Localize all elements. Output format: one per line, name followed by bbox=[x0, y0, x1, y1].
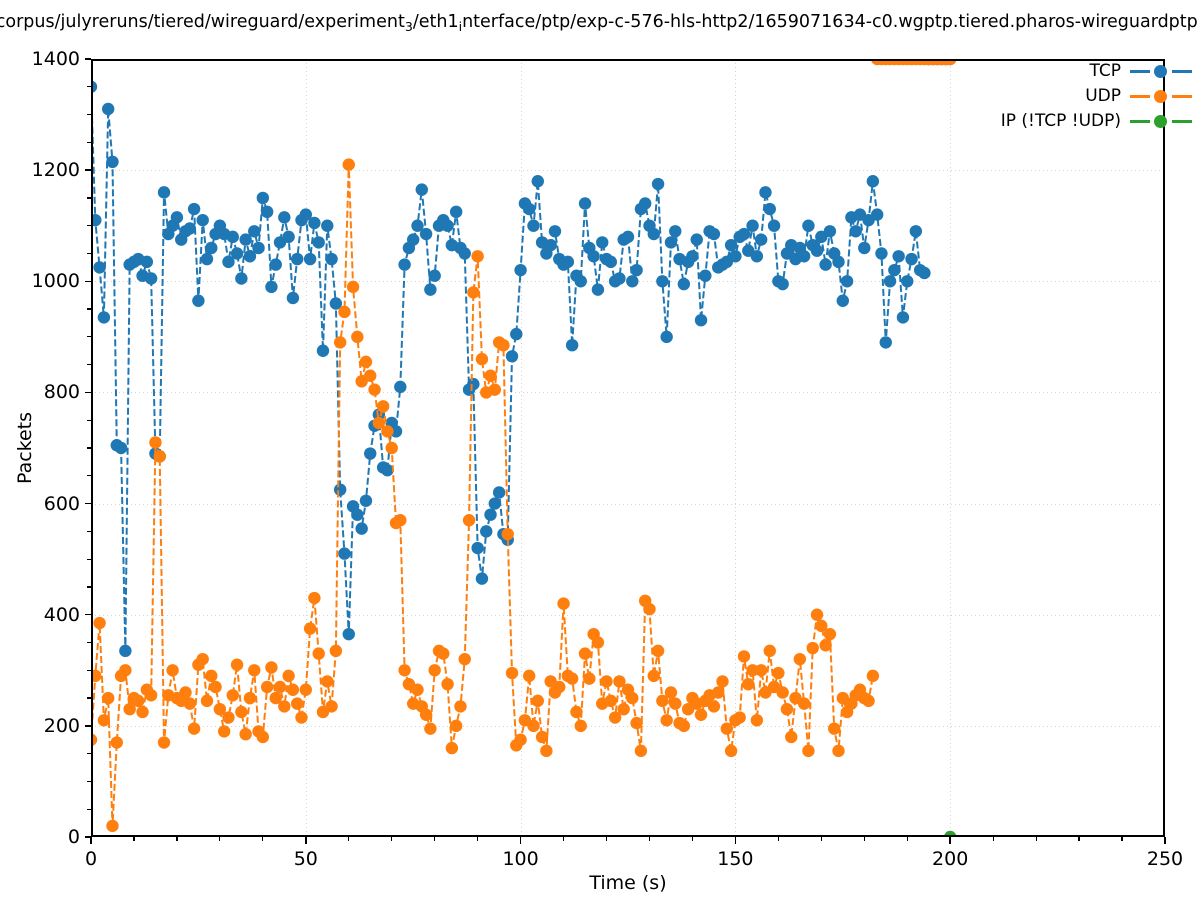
data-point bbox=[192, 295, 204, 307]
data-point bbox=[613, 272, 625, 284]
data-point bbox=[484, 370, 496, 382]
data-point bbox=[93, 617, 105, 629]
data-point bbox=[828, 722, 840, 734]
data-point bbox=[394, 514, 406, 526]
data-point bbox=[858, 242, 870, 254]
y-tick-label: 1200 bbox=[32, 159, 80, 181]
data-point bbox=[824, 628, 836, 640]
data-point bbox=[119, 645, 131, 657]
data-point bbox=[441, 220, 453, 232]
data-point bbox=[652, 645, 664, 657]
x-tick bbox=[1164, 837, 1166, 844]
data-point bbox=[600, 675, 612, 687]
series-tcp bbox=[91, 59, 956, 657]
data-point bbox=[708, 228, 720, 240]
x-tick bbox=[949, 837, 951, 844]
data-point bbox=[360, 495, 372, 507]
data-point bbox=[480, 525, 492, 537]
x-tick-label: 100 bbox=[502, 848, 538, 870]
data-point bbox=[171, 211, 183, 223]
data-point bbox=[407, 233, 419, 245]
data-point bbox=[398, 664, 410, 676]
data-point bbox=[471, 542, 483, 554]
data-point bbox=[149, 436, 161, 448]
legend-label: UDP bbox=[1085, 86, 1121, 106]
data-point bbox=[506, 667, 518, 679]
data-point bbox=[686, 250, 698, 262]
data-point bbox=[570, 706, 582, 718]
x-tick-minor bbox=[864, 837, 865, 841]
data-point bbox=[398, 258, 410, 270]
data-point bbox=[575, 275, 587, 287]
data-point bbox=[106, 820, 118, 832]
data-point bbox=[102, 692, 114, 704]
data-point bbox=[235, 272, 247, 284]
data-point bbox=[630, 264, 642, 276]
data-point bbox=[467, 378, 479, 390]
page-title: nlight/corpus/julyreruns/tiered/wireguar… bbox=[0, 8, 1197, 36]
x-tick-label: 150 bbox=[717, 848, 753, 870]
data-point bbox=[652, 178, 664, 190]
data-point bbox=[338, 306, 350, 318]
data-point bbox=[304, 622, 316, 634]
data-point bbox=[807, 642, 819, 654]
x-tick bbox=[305, 837, 307, 844]
data-point bbox=[811, 609, 823, 621]
data-point bbox=[154, 450, 166, 462]
data-point bbox=[450, 206, 462, 218]
legend-line-right bbox=[1172, 70, 1192, 73]
y-tick-label: 1000 bbox=[32, 270, 80, 292]
data-point bbox=[536, 731, 548, 743]
data-point bbox=[334, 483, 346, 495]
data-point bbox=[622, 231, 634, 243]
data-point bbox=[270, 258, 282, 270]
x-tick-minor bbox=[993, 837, 994, 841]
data-point bbox=[819, 639, 831, 651]
data-point bbox=[764, 203, 776, 215]
figure: nlight/corpus/julyreruns/tiered/wireguar… bbox=[0, 0, 1197, 900]
legend-marker-circle-icon bbox=[1154, 65, 1167, 78]
data-point bbox=[459, 247, 471, 259]
data-point bbox=[849, 225, 861, 237]
data-point bbox=[484, 508, 496, 520]
data-point bbox=[746, 220, 758, 232]
data-point bbox=[716, 675, 728, 687]
data-point bbox=[708, 700, 720, 712]
data-point bbox=[265, 281, 277, 293]
data-point bbox=[248, 664, 260, 676]
data-point bbox=[905, 253, 917, 265]
data-point bbox=[197, 653, 209, 665]
x-axis-label: Time (s) bbox=[91, 872, 1165, 894]
data-point bbox=[532, 695, 544, 707]
data-point bbox=[794, 653, 806, 665]
data-point bbox=[235, 706, 247, 718]
data-point bbox=[454, 700, 466, 712]
data-point bbox=[274, 681, 286, 693]
data-point bbox=[888, 264, 900, 276]
data-point bbox=[566, 672, 578, 684]
data-point bbox=[648, 228, 660, 240]
data-point bbox=[377, 400, 389, 412]
data-point bbox=[884, 275, 896, 287]
data-point bbox=[287, 684, 299, 696]
data-point bbox=[575, 720, 587, 732]
data-point bbox=[493, 486, 505, 498]
data-point bbox=[523, 203, 535, 215]
data-point bbox=[699, 270, 711, 282]
data-point bbox=[227, 231, 239, 243]
data-point bbox=[918, 267, 930, 279]
data-point bbox=[626, 692, 638, 704]
data-point bbox=[643, 603, 655, 615]
data-point bbox=[751, 714, 763, 726]
data-point bbox=[497, 339, 509, 351]
data-point bbox=[98, 311, 110, 323]
data-point bbox=[871, 208, 883, 220]
axis-spine-top bbox=[91, 59, 1165, 61]
x-tick-minor bbox=[434, 837, 435, 841]
data-point bbox=[785, 731, 797, 743]
data-point bbox=[630, 717, 642, 729]
data-point bbox=[910, 225, 922, 237]
data-point bbox=[205, 670, 217, 682]
data-point bbox=[317, 345, 329, 357]
legend-line-left bbox=[1130, 120, 1150, 123]
data-point bbox=[832, 745, 844, 757]
data-point bbox=[197, 214, 209, 226]
data-point bbox=[343, 628, 355, 640]
x-tick-minor bbox=[133, 837, 134, 841]
data-point bbox=[179, 686, 191, 698]
data-point bbox=[562, 256, 574, 268]
data-point bbox=[781, 703, 793, 715]
data-point bbox=[867, 175, 879, 187]
data-point bbox=[798, 250, 810, 262]
y-tick-label: 600 bbox=[44, 493, 80, 515]
data-point bbox=[265, 661, 277, 673]
legend-marker-circle-icon bbox=[1154, 90, 1167, 103]
data-point bbox=[278, 211, 290, 223]
data-point bbox=[802, 220, 814, 232]
data-point bbox=[867, 670, 879, 682]
data-point bbox=[510, 328, 522, 340]
data-point bbox=[665, 686, 677, 698]
y-tick-label: 800 bbox=[44, 381, 80, 403]
x-tick-minor bbox=[176, 837, 177, 841]
data-point bbox=[755, 664, 767, 676]
data-point bbox=[579, 647, 591, 659]
legend-label: TCP bbox=[1089, 61, 1121, 81]
data-point bbox=[489, 497, 501, 509]
legend-item-udp[interactable]: UDP bbox=[1085, 85, 1192, 107]
data-point bbox=[557, 597, 569, 609]
data-point bbox=[669, 697, 681, 709]
data-point bbox=[605, 695, 617, 707]
axis-spine-bottom bbox=[91, 835, 1165, 837]
data-point bbox=[420, 709, 432, 721]
data-point bbox=[106, 156, 118, 168]
data-point bbox=[424, 722, 436, 734]
data-point bbox=[188, 722, 200, 734]
legend-line-left bbox=[1130, 95, 1150, 98]
data-point bbox=[115, 442, 127, 454]
data-point bbox=[334, 336, 346, 348]
data-point bbox=[875, 247, 887, 259]
data-point bbox=[325, 700, 337, 712]
data-point bbox=[98, 714, 110, 726]
data-point bbox=[880, 336, 892, 348]
data-point bbox=[592, 283, 604, 295]
data-point bbox=[648, 670, 660, 682]
legend-item-tcp[interactable]: TCP bbox=[1089, 60, 1192, 82]
data-point bbox=[678, 720, 690, 732]
data-point bbox=[145, 689, 157, 701]
data-point bbox=[489, 383, 501, 395]
data-point bbox=[764, 645, 776, 657]
x-tick bbox=[90, 837, 92, 844]
data-point bbox=[343, 158, 355, 170]
legend-item-ip-tcp-udp-[interactable]: IP (!TCP !UDP) bbox=[1001, 110, 1192, 132]
title-mid-2: nterface/ptp/exp-c-576-hls-http2/1659071… bbox=[462, 12, 1197, 32]
data-point bbox=[446, 742, 458, 754]
legend-label: IP (!TCP !UDP) bbox=[1001, 111, 1121, 131]
title-prefix: nlight/corpus/julyreruns/tiered/wireguar… bbox=[0, 12, 405, 32]
data-point bbox=[252, 242, 264, 254]
data-point bbox=[596, 236, 608, 248]
data-point bbox=[351, 508, 363, 520]
y-tick-label: 0 bbox=[68, 826, 80, 848]
data-point bbox=[295, 711, 307, 723]
data-point bbox=[278, 700, 290, 712]
data-point bbox=[351, 331, 363, 343]
data-point bbox=[695, 709, 707, 721]
data-point bbox=[321, 220, 333, 232]
data-point bbox=[506, 350, 518, 362]
data-point bbox=[635, 745, 647, 757]
data-point bbox=[437, 647, 449, 659]
series-svg bbox=[91, 59, 1165, 837]
data-point bbox=[734, 711, 746, 723]
x-tick-minor bbox=[391, 837, 392, 841]
data-point bbox=[467, 286, 479, 298]
data-point bbox=[368, 383, 380, 395]
legend-line-right bbox=[1172, 95, 1192, 98]
data-point bbox=[502, 528, 514, 540]
x-tick-minor bbox=[1036, 837, 1037, 841]
data-point bbox=[201, 253, 213, 265]
x-tick-label: 50 bbox=[294, 848, 318, 870]
x-tick-label: 250 bbox=[1147, 848, 1183, 870]
data-point bbox=[802, 745, 814, 757]
data-point bbox=[669, 225, 681, 237]
data-point bbox=[837, 295, 849, 307]
data-point bbox=[892, 250, 904, 262]
data-point bbox=[231, 659, 243, 671]
data-point bbox=[768, 220, 780, 232]
data-point bbox=[227, 689, 239, 701]
data-point bbox=[93, 261, 105, 273]
data-point bbox=[282, 231, 294, 243]
data-point bbox=[459, 653, 471, 665]
data-point bbox=[695, 314, 707, 326]
data-point bbox=[450, 720, 462, 732]
x-tick-label: 0 bbox=[85, 848, 97, 870]
data-point bbox=[424, 283, 436, 295]
data-point bbox=[738, 650, 750, 662]
data-point bbox=[811, 245, 823, 257]
data-point bbox=[527, 220, 539, 232]
x-tick-minor bbox=[778, 837, 779, 841]
data-point bbox=[759, 186, 771, 198]
x-tick-minor bbox=[649, 837, 650, 841]
data-point bbox=[304, 253, 316, 265]
data-point bbox=[729, 250, 741, 262]
data-point bbox=[532, 175, 544, 187]
data-point bbox=[841, 275, 853, 287]
title-sub-3: 3 bbox=[405, 19, 413, 34]
data-point bbox=[583, 672, 595, 684]
legend-swatch bbox=[1130, 89, 1192, 103]
data-point bbox=[428, 270, 440, 282]
x-tick-minor bbox=[1121, 837, 1122, 841]
data-point bbox=[291, 697, 303, 709]
data-point bbox=[145, 272, 157, 284]
data-point bbox=[566, 339, 578, 351]
data-point bbox=[231, 247, 243, 259]
data-point bbox=[257, 192, 269, 204]
data-point bbox=[660, 331, 672, 343]
data-point bbox=[119, 664, 131, 676]
data-point bbox=[798, 697, 810, 709]
y-tick-label: 1400 bbox=[32, 48, 80, 70]
data-point bbox=[261, 681, 273, 693]
data-point bbox=[132, 695, 144, 707]
legend-line-right bbox=[1172, 120, 1192, 123]
data-point bbox=[312, 647, 324, 659]
data-point bbox=[441, 678, 453, 690]
data-point bbox=[330, 645, 342, 657]
x-tick-minor bbox=[692, 837, 693, 841]
data-point bbox=[755, 233, 767, 245]
data-point bbox=[463, 514, 475, 526]
data-point bbox=[587, 250, 599, 262]
data-point bbox=[364, 370, 376, 382]
data-point bbox=[527, 720, 539, 732]
data-point bbox=[261, 206, 273, 218]
data-point bbox=[476, 572, 488, 584]
data-point bbox=[776, 278, 788, 290]
data-point bbox=[416, 183, 428, 195]
data-point bbox=[471, 250, 483, 262]
data-point bbox=[136, 706, 148, 718]
x-tick-minor bbox=[1078, 837, 1079, 841]
x-tick bbox=[735, 837, 737, 844]
data-point bbox=[381, 425, 393, 437]
data-point bbox=[158, 186, 170, 198]
data-point bbox=[201, 695, 213, 707]
data-point bbox=[338, 547, 350, 559]
data-point bbox=[819, 258, 831, 270]
data-point bbox=[725, 745, 737, 757]
data-point bbox=[188, 203, 200, 215]
legend-swatch bbox=[1130, 64, 1192, 78]
data-point bbox=[605, 256, 617, 268]
legend-swatch bbox=[1130, 114, 1192, 128]
data-point bbox=[618, 703, 630, 715]
data-point bbox=[523, 670, 535, 682]
data-point bbox=[347, 281, 359, 293]
data-point bbox=[428, 664, 440, 676]
data-point bbox=[184, 697, 196, 709]
data-point bbox=[321, 675, 333, 687]
data-point bbox=[308, 592, 320, 604]
x-tick-minor bbox=[262, 837, 263, 841]
data-point bbox=[678, 278, 690, 290]
data-point bbox=[660, 714, 672, 726]
data-point bbox=[776, 686, 788, 698]
data-point bbox=[691, 233, 703, 245]
data-point bbox=[514, 734, 526, 746]
axis-spine-right bbox=[1163, 59, 1165, 837]
axis-spine-left bbox=[91, 59, 93, 837]
data-point bbox=[218, 725, 230, 737]
data-point bbox=[665, 236, 677, 248]
data-point bbox=[141, 256, 153, 268]
data-point bbox=[291, 253, 303, 265]
data-point bbox=[394, 381, 406, 393]
data-point bbox=[712, 686, 724, 698]
data-point bbox=[360, 356, 372, 368]
x-tick-minor bbox=[348, 837, 349, 841]
x-tick bbox=[520, 837, 522, 844]
data-point bbox=[579, 197, 591, 209]
data-point bbox=[514, 264, 526, 276]
data-point bbox=[897, 311, 909, 323]
x-tick-minor bbox=[907, 837, 908, 841]
x-tick-minor bbox=[606, 837, 607, 841]
data-point bbox=[282, 670, 294, 682]
data-point bbox=[184, 222, 196, 234]
data-point bbox=[544, 239, 556, 251]
data-point bbox=[158, 736, 170, 748]
data-point bbox=[287, 292, 299, 304]
data-point bbox=[549, 225, 561, 237]
data-point bbox=[626, 275, 638, 287]
data-point bbox=[656, 275, 668, 287]
title-mid-1: /eth1 bbox=[413, 12, 459, 32]
y-tick-label: 400 bbox=[44, 604, 80, 626]
plot-area: 0200400600800100012001400050100150200250 bbox=[91, 59, 1165, 837]
data-point bbox=[639, 197, 651, 209]
data-point bbox=[742, 678, 754, 690]
data-point bbox=[300, 684, 312, 696]
data-point bbox=[751, 250, 763, 262]
data-point bbox=[308, 217, 320, 229]
data-point bbox=[592, 636, 604, 648]
x-tick-minor bbox=[563, 837, 564, 841]
data-point bbox=[862, 695, 874, 707]
data-point bbox=[476, 353, 488, 365]
data-point bbox=[222, 711, 234, 723]
x-tick-minor bbox=[219, 837, 220, 841]
data-point bbox=[244, 692, 256, 704]
data-point bbox=[364, 447, 376, 459]
data-point bbox=[553, 681, 565, 693]
x-tick-label: 200 bbox=[932, 848, 968, 870]
data-point bbox=[111, 736, 123, 748]
